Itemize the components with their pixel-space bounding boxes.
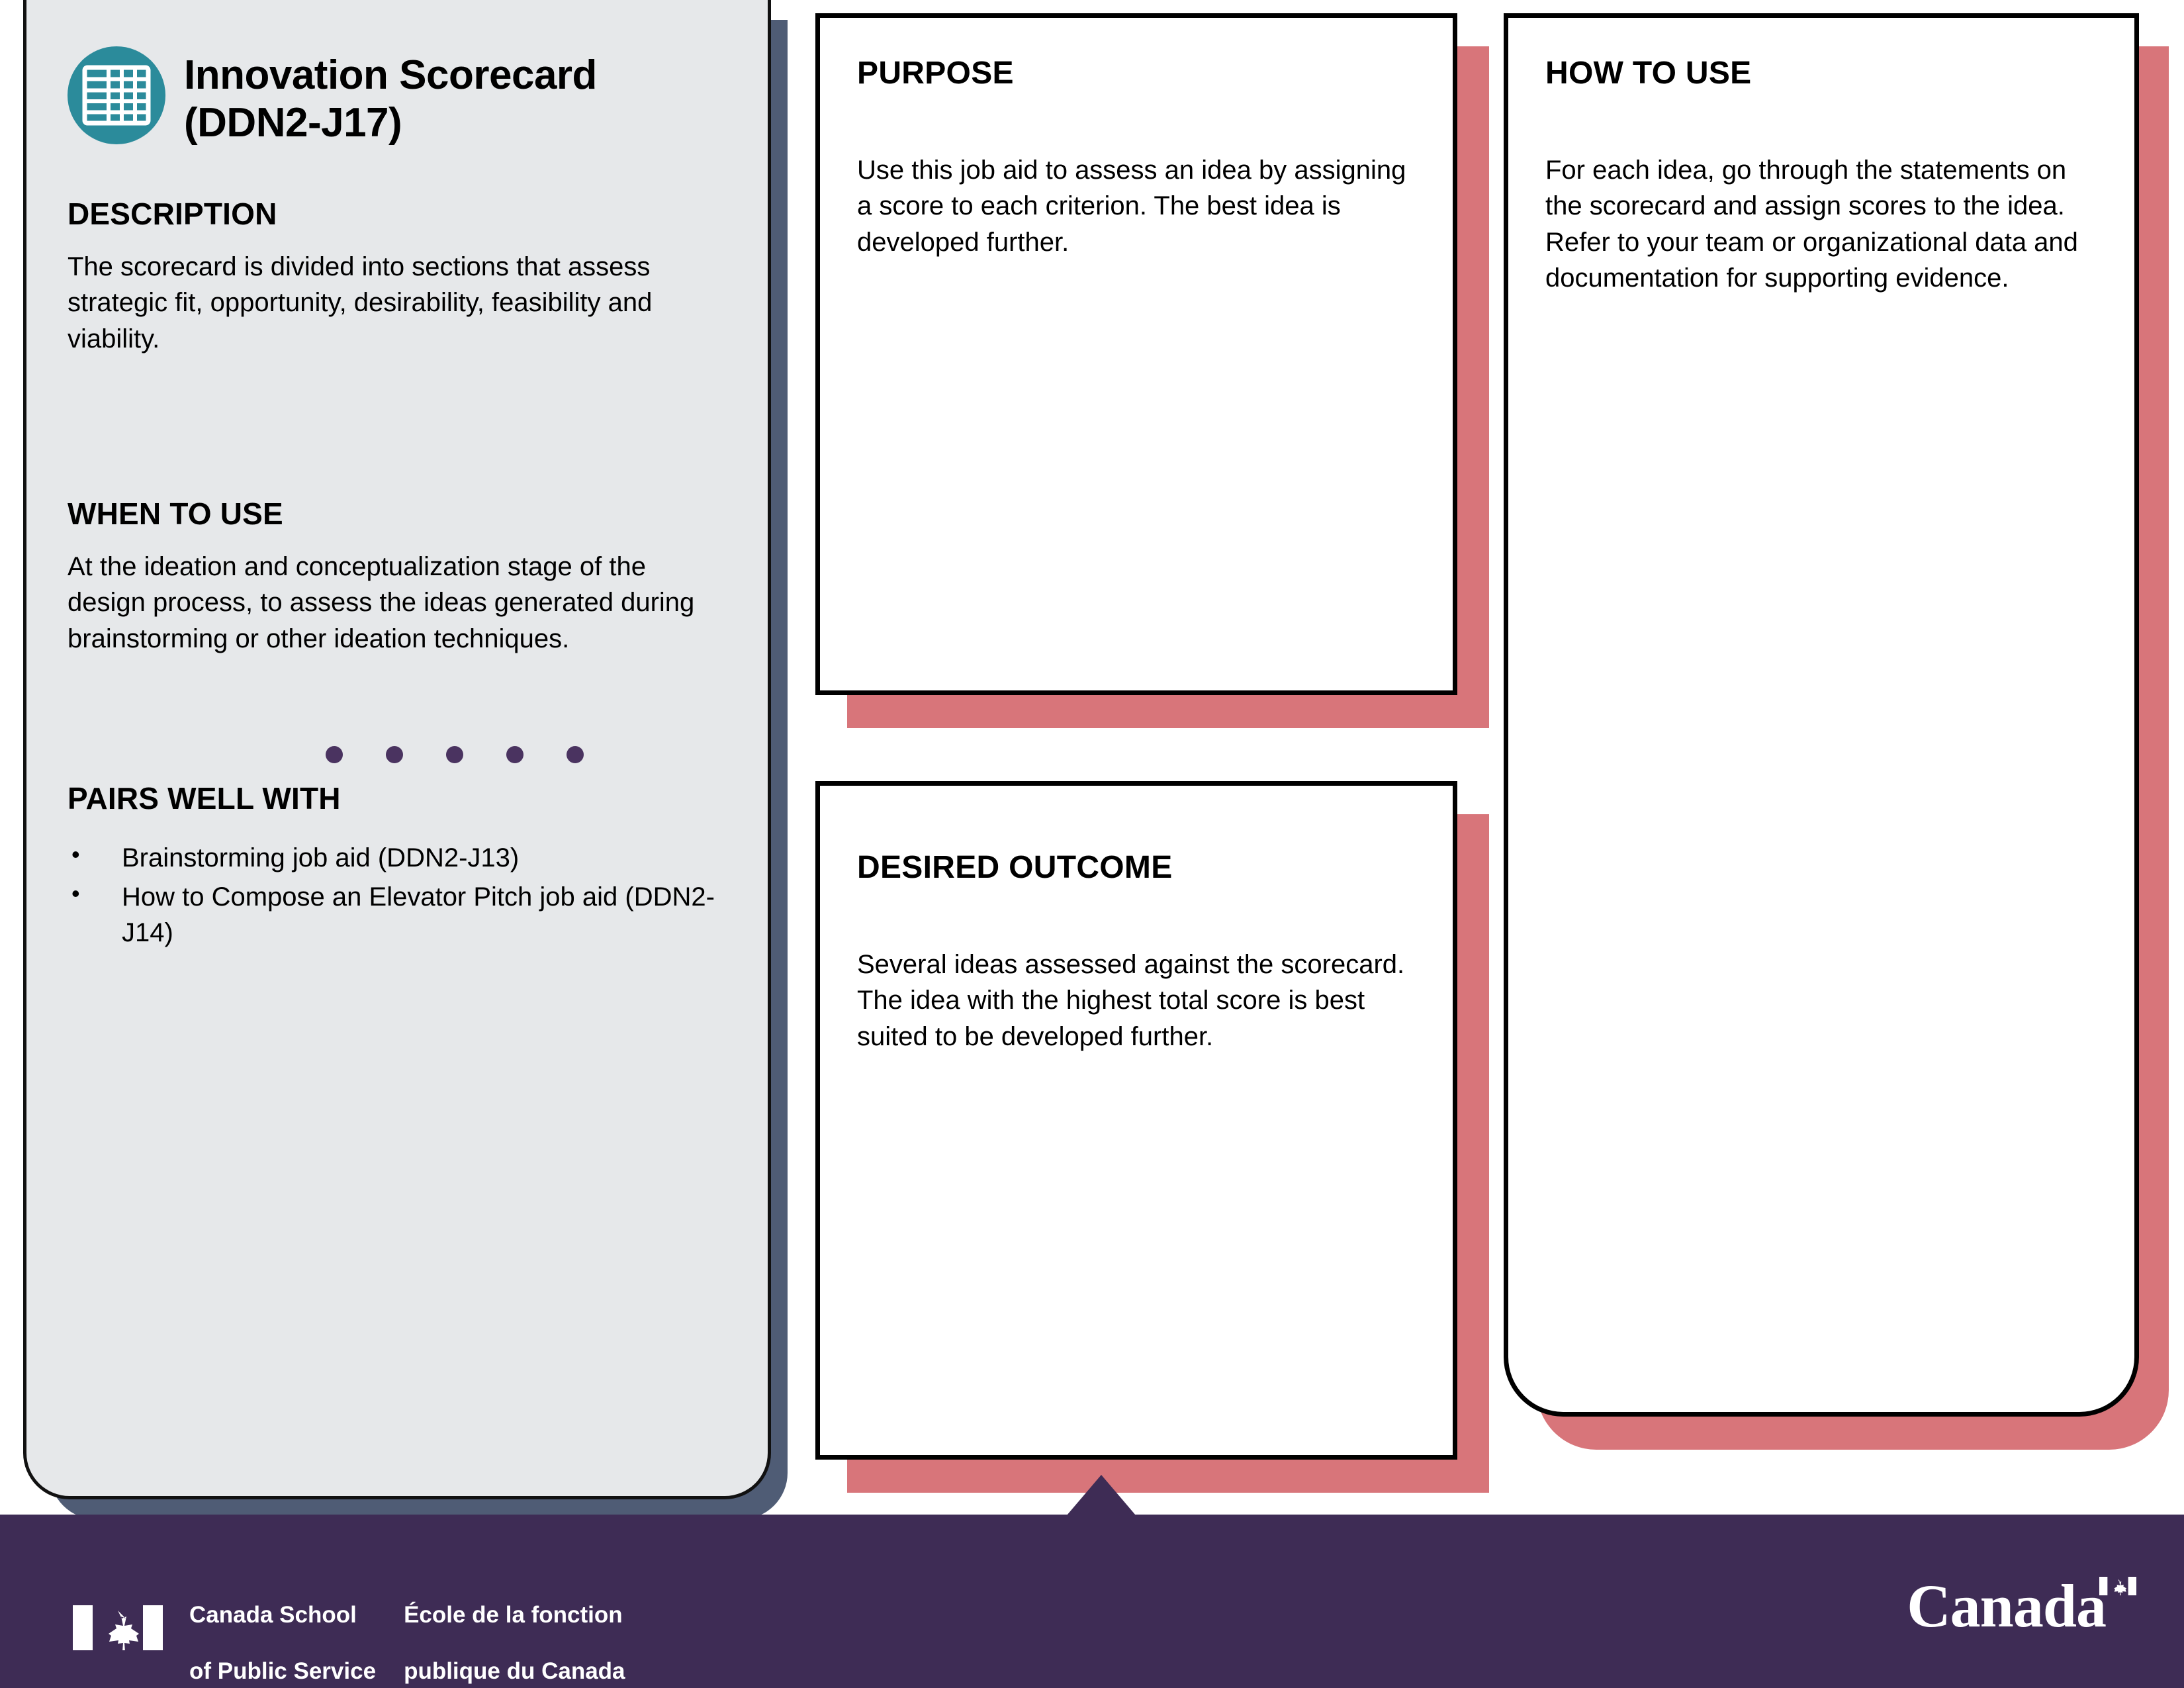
csps-wordmark-fr: École de la fonction publique du Canada <box>404 1573 625 1686</box>
divider-dot <box>506 746 523 763</box>
description-heading: DESCRIPTION <box>68 196 727 232</box>
canada-flag-icon-small <box>2099 1577 2136 1599</box>
desired-outcome-heading: DESIRED OUTCOME <box>857 849 1416 886</box>
csps-wordmark-en: Canada School of Public Service <box>189 1573 376 1686</box>
purpose-body: Use this job aid to assess an idea by as… <box>857 152 1416 260</box>
csps-wordmark: Canada School of Public Service École de… <box>189 1573 625 1686</box>
job-aid-page: Innovation Scorecard (DDN2-J17) DESCRIPT… <box>0 0 2184 1688</box>
divider-dots <box>68 746 727 763</box>
csps-en-line-2: of Public Service <box>189 1658 376 1684</box>
page-title: Innovation Scorecard (DDN2-J17) <box>184 46 597 147</box>
desired-outcome-card: DESIRED OUTCOME Several ideas assessed a… <box>815 781 1457 1460</box>
footer-pointer-triangle <box>1067 1475 1136 1515</box>
page-title-line-2: (DDN2-J17) <box>184 99 597 147</box>
when-to-use-body: At the ideation and conceptualization st… <box>68 549 727 657</box>
csps-en-line-1: Canada School <box>189 1602 357 1628</box>
purpose-card: PURPOSE Use this job aid to assess an id… <box>815 13 1457 695</box>
when-to-use-heading: WHEN TO USE <box>68 496 727 532</box>
how-to-use-body: For each idea, go through the statements… <box>1545 152 2097 297</box>
divider-dot <box>567 746 584 763</box>
csps-signature: Canada School of Public Service École de… <box>73 1573 625 1686</box>
description-body: The scorecard is divided into sections t… <box>68 249 727 357</box>
divider-dot <box>386 746 403 763</box>
how-to-use-heading: HOW TO USE <box>1545 55 2097 91</box>
how-to-use-card: HOW TO USE For each idea, go through the… <box>1504 13 2139 1417</box>
pairs-well-with-list: Brainstorming job aid (DDN2-J13) How to … <box>68 840 727 951</box>
canada-wordmark-text: Canada <box>1907 1575 2106 1636</box>
divider-dot <box>326 746 343 763</box>
divider-dot <box>446 746 463 763</box>
scorecard-grid-icon <box>68 46 165 144</box>
csps-fr-line-1: École de la fonction <box>404 1602 623 1628</box>
list-item: How to Compose an Elevator Pitch job aid… <box>68 879 727 951</box>
purpose-heading: PURPOSE <box>857 55 1416 91</box>
footer-bar: Canada School of Public Service École de… <box>0 1515 2184 1688</box>
pairs-well-with-heading: PAIRS WELL WITH <box>68 780 727 816</box>
csps-fr-line-2: publique du Canada <box>404 1658 625 1684</box>
desired-outcome-body: Several ideas assessed against the score… <box>857 947 1416 1055</box>
sidebar-card: Innovation Scorecard (DDN2-J17) DESCRIPT… <box>23 0 771 1499</box>
list-item: Brainstorming job aid (DDN2-J13) <box>68 840 727 876</box>
page-title-line-1: Innovation Scorecard <box>184 52 597 99</box>
canada-flag-icon <box>73 1605 163 1654</box>
sidebar-header: Innovation Scorecard (DDN2-J17) <box>68 46 727 147</box>
canada-wordmark: Canada <box>1907 1575 2136 1636</box>
